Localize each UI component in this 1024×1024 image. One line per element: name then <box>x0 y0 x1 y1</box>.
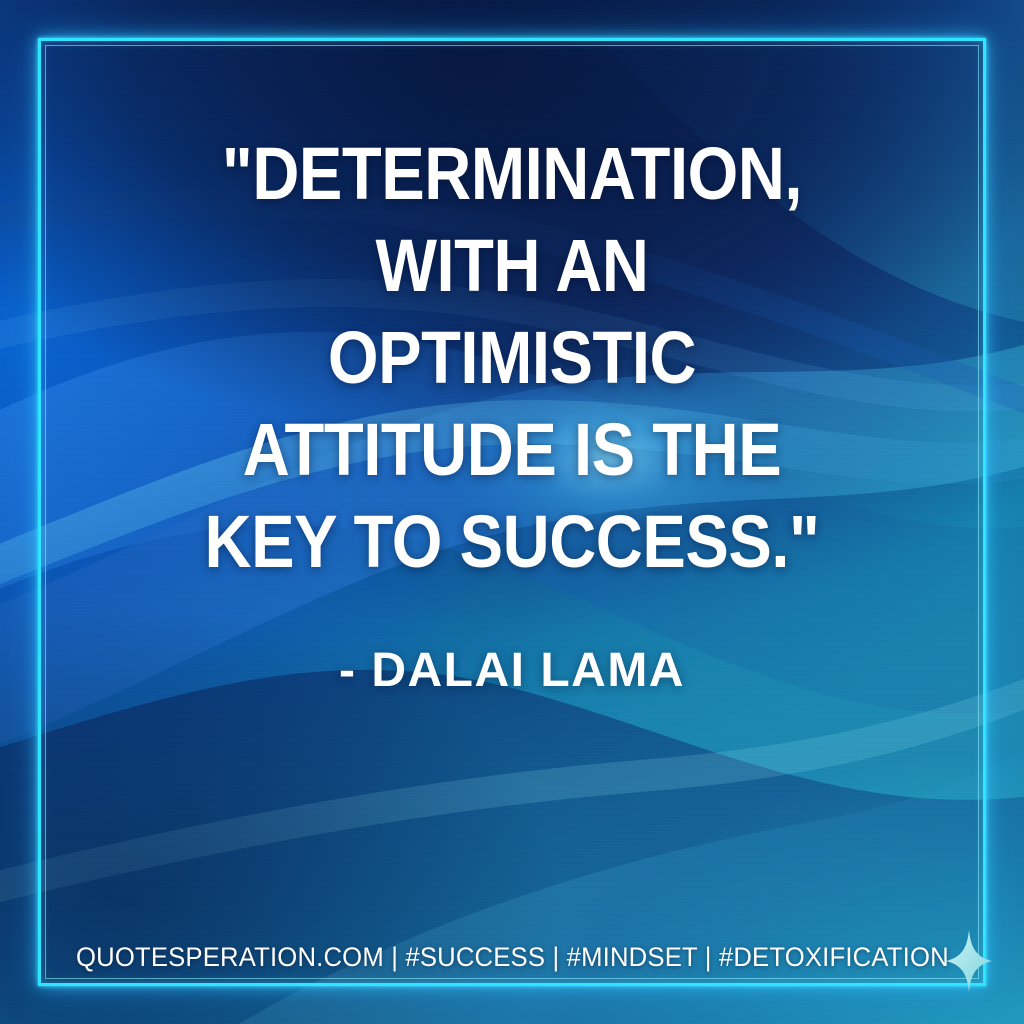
quote-line-2: WITH AN <box>114 220 910 312</box>
quote-poster: "DETERMINATION, WITH AN OPTIMISTIC ATTIT… <box>0 0 1024 1024</box>
quote-line-5: KEY TO SUCCESS." <box>114 496 910 588</box>
footer-bar: QUOTESPERATION.COM | #SUCCESS | #MINDSET… <box>60 936 964 978</box>
quote-attribution: - DALAI LAMA <box>0 640 1024 702</box>
quote-line-1: "DETERMINATION, <box>114 128 910 220</box>
quote-text: "DETERMINATION, WITH AN OPTIMISTIC ATTIT… <box>0 128 1024 588</box>
quote-line-4: ATTITUDE IS THE <box>114 404 910 496</box>
quote-line-3: OPTIMISTIC <box>114 312 910 404</box>
footer-credit-text: QUOTESPERATION.COM | #SUCCESS | #MINDSET… <box>76 942 949 973</box>
